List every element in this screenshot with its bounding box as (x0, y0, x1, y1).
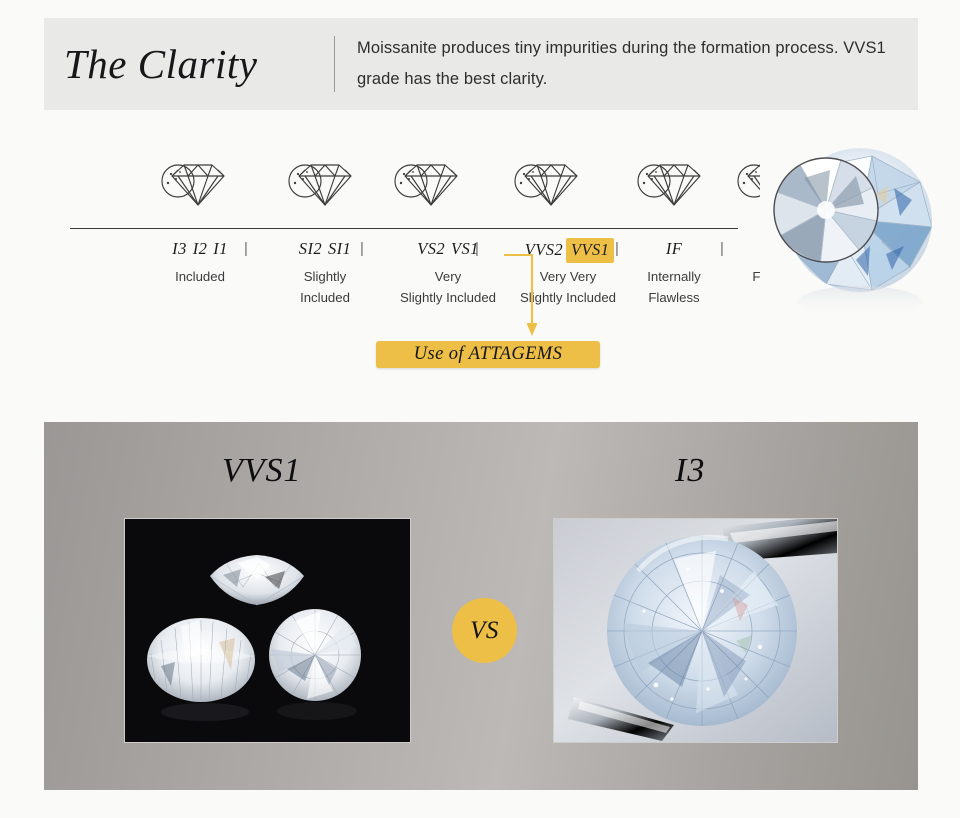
diamond-magnifier-icon (281, 160, 361, 220)
three-loose-diamonds-on-black-photo (124, 518, 411, 743)
grade-separator: | (615, 238, 619, 260)
grade-separator: | (244, 238, 248, 260)
grade-codes: IF (634, 238, 714, 260)
grade-separator: | (360, 238, 364, 260)
header-band: The Clarity Moissanite produces tiny imp… (44, 18, 918, 110)
header-description: Moissanite produces tiny impurities duri… (335, 33, 915, 95)
comparison-label-left: VVS1 (222, 452, 302, 490)
use-of-attagems-badge: Use of ATTAGEMS (376, 341, 600, 368)
versus-badge: VS (452, 598, 517, 663)
included-diamond-in-tweezers-photo (553, 518, 838, 743)
diamond-icon-row (70, 160, 738, 222)
clarity-infographic-page: The Clarity Moissanite produces tiny imp… (0, 0, 960, 818)
grade-codes: SI2SI1 (266, 238, 384, 260)
grade-codes: VS2VS1 (378, 238, 518, 260)
diamond-magnifier-icon (154, 160, 234, 220)
clarity-scale: I3I2I1IncludedSI2SI1SlightlyIncludedVS2V… (70, 160, 738, 340)
grade-code: I2 (190, 238, 211, 260)
grade-codes: I3I2I1 (130, 238, 270, 260)
grade-group: SI2SI1SlightlyIncluded (266, 238, 384, 308)
scale-rule (70, 228, 738, 229)
callout-arrow (500, 248, 570, 343)
grade-code: VS2 (414, 238, 448, 260)
grade-code-highlighted: VVS1 (566, 238, 614, 263)
grade-group: I3I2I1Included (130, 238, 270, 287)
grade-groups: I3I2I1IncludedSI2SI1SlightlyIncludedVS2V… (70, 238, 738, 338)
grade-description: InternallyFlawless (634, 266, 714, 308)
grade-separator: | (475, 238, 479, 260)
brilliant-diamond-magnified-photo (760, 142, 950, 320)
grade-group: VS2VS1VerySlightly Included (378, 238, 518, 308)
grade-description: SlightlyIncluded (266, 266, 384, 308)
comparison-label-right: I3 (675, 452, 705, 490)
grade-description: VerySlightly Included (378, 266, 518, 308)
grade-code: SI1 (325, 238, 354, 260)
grade-separator: | (720, 238, 724, 260)
grade-group: IFInternallyFlawless (634, 238, 714, 308)
page-title: The Clarity (44, 40, 334, 88)
diamond-magnifier-icon (387, 160, 467, 220)
grade-code: IF (663, 238, 685, 260)
diamond-magnifier-icon (630, 160, 710, 220)
grade-code: I3 (169, 238, 190, 260)
grade-code: I1 (210, 238, 231, 260)
grade-code: SI2 (296, 238, 325, 260)
diamond-magnifier-icon (507, 160, 587, 220)
grade-description: Included (130, 266, 270, 287)
